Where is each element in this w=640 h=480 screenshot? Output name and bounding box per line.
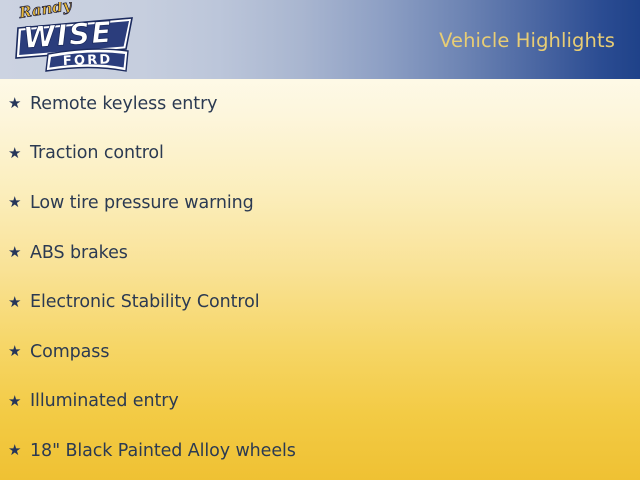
star-icon: ★ <box>8 146 30 161</box>
page-title: Vehicle Highlights <box>439 28 615 54</box>
list-item: ★ ABS brakes <box>0 228 640 278</box>
list-item: ★ 18" Black Painted Alloy wheels <box>0 426 640 476</box>
feature-label: ABS brakes <box>30 241 128 265</box>
star-icon: ★ <box>8 245 30 260</box>
feature-label: 18" Black Painted Alloy wheels <box>30 439 296 463</box>
feature-label: Remote keyless entry <box>30 92 217 116</box>
feature-label: Electronic Stability Control <box>30 290 259 314</box>
vehicle-features-list: ★ Remote keyless entry ★ Traction contro… <box>0 79 640 476</box>
list-item: ★ Electronic Stability Control <box>0 277 640 327</box>
list-item: ★ Traction control <box>0 129 640 179</box>
feature-label: Compass <box>30 340 109 364</box>
star-icon: ★ <box>8 443 30 458</box>
star-icon: ★ <box>8 344 30 359</box>
list-item: ★ Low tire pressure warning <box>0 178 640 228</box>
randy-wise-ford-logo: WISE Randy FORD <box>4 2 140 78</box>
header-banner: WISE Randy FORD Vehicle Highlights <box>0 0 640 79</box>
vehicle-highlights-slide: WISE Randy FORD Vehicle Highlights ★ Rem… <box>0 0 640 480</box>
star-icon: ★ <box>8 96 30 111</box>
list-item: ★ Remote keyless entry <box>0 79 640 129</box>
feature-label: Traction control <box>30 141 164 165</box>
list-item: ★ Compass <box>0 327 640 377</box>
feature-label: Low tire pressure warning <box>30 191 254 215</box>
feature-label: Illuminated entry <box>30 389 179 413</box>
star-icon: ★ <box>8 295 30 310</box>
star-icon: ★ <box>8 195 30 210</box>
list-item: ★ Illuminated entry <box>0 377 640 427</box>
star-icon: ★ <box>8 394 30 409</box>
svg-text:FORD: FORD <box>63 52 113 69</box>
